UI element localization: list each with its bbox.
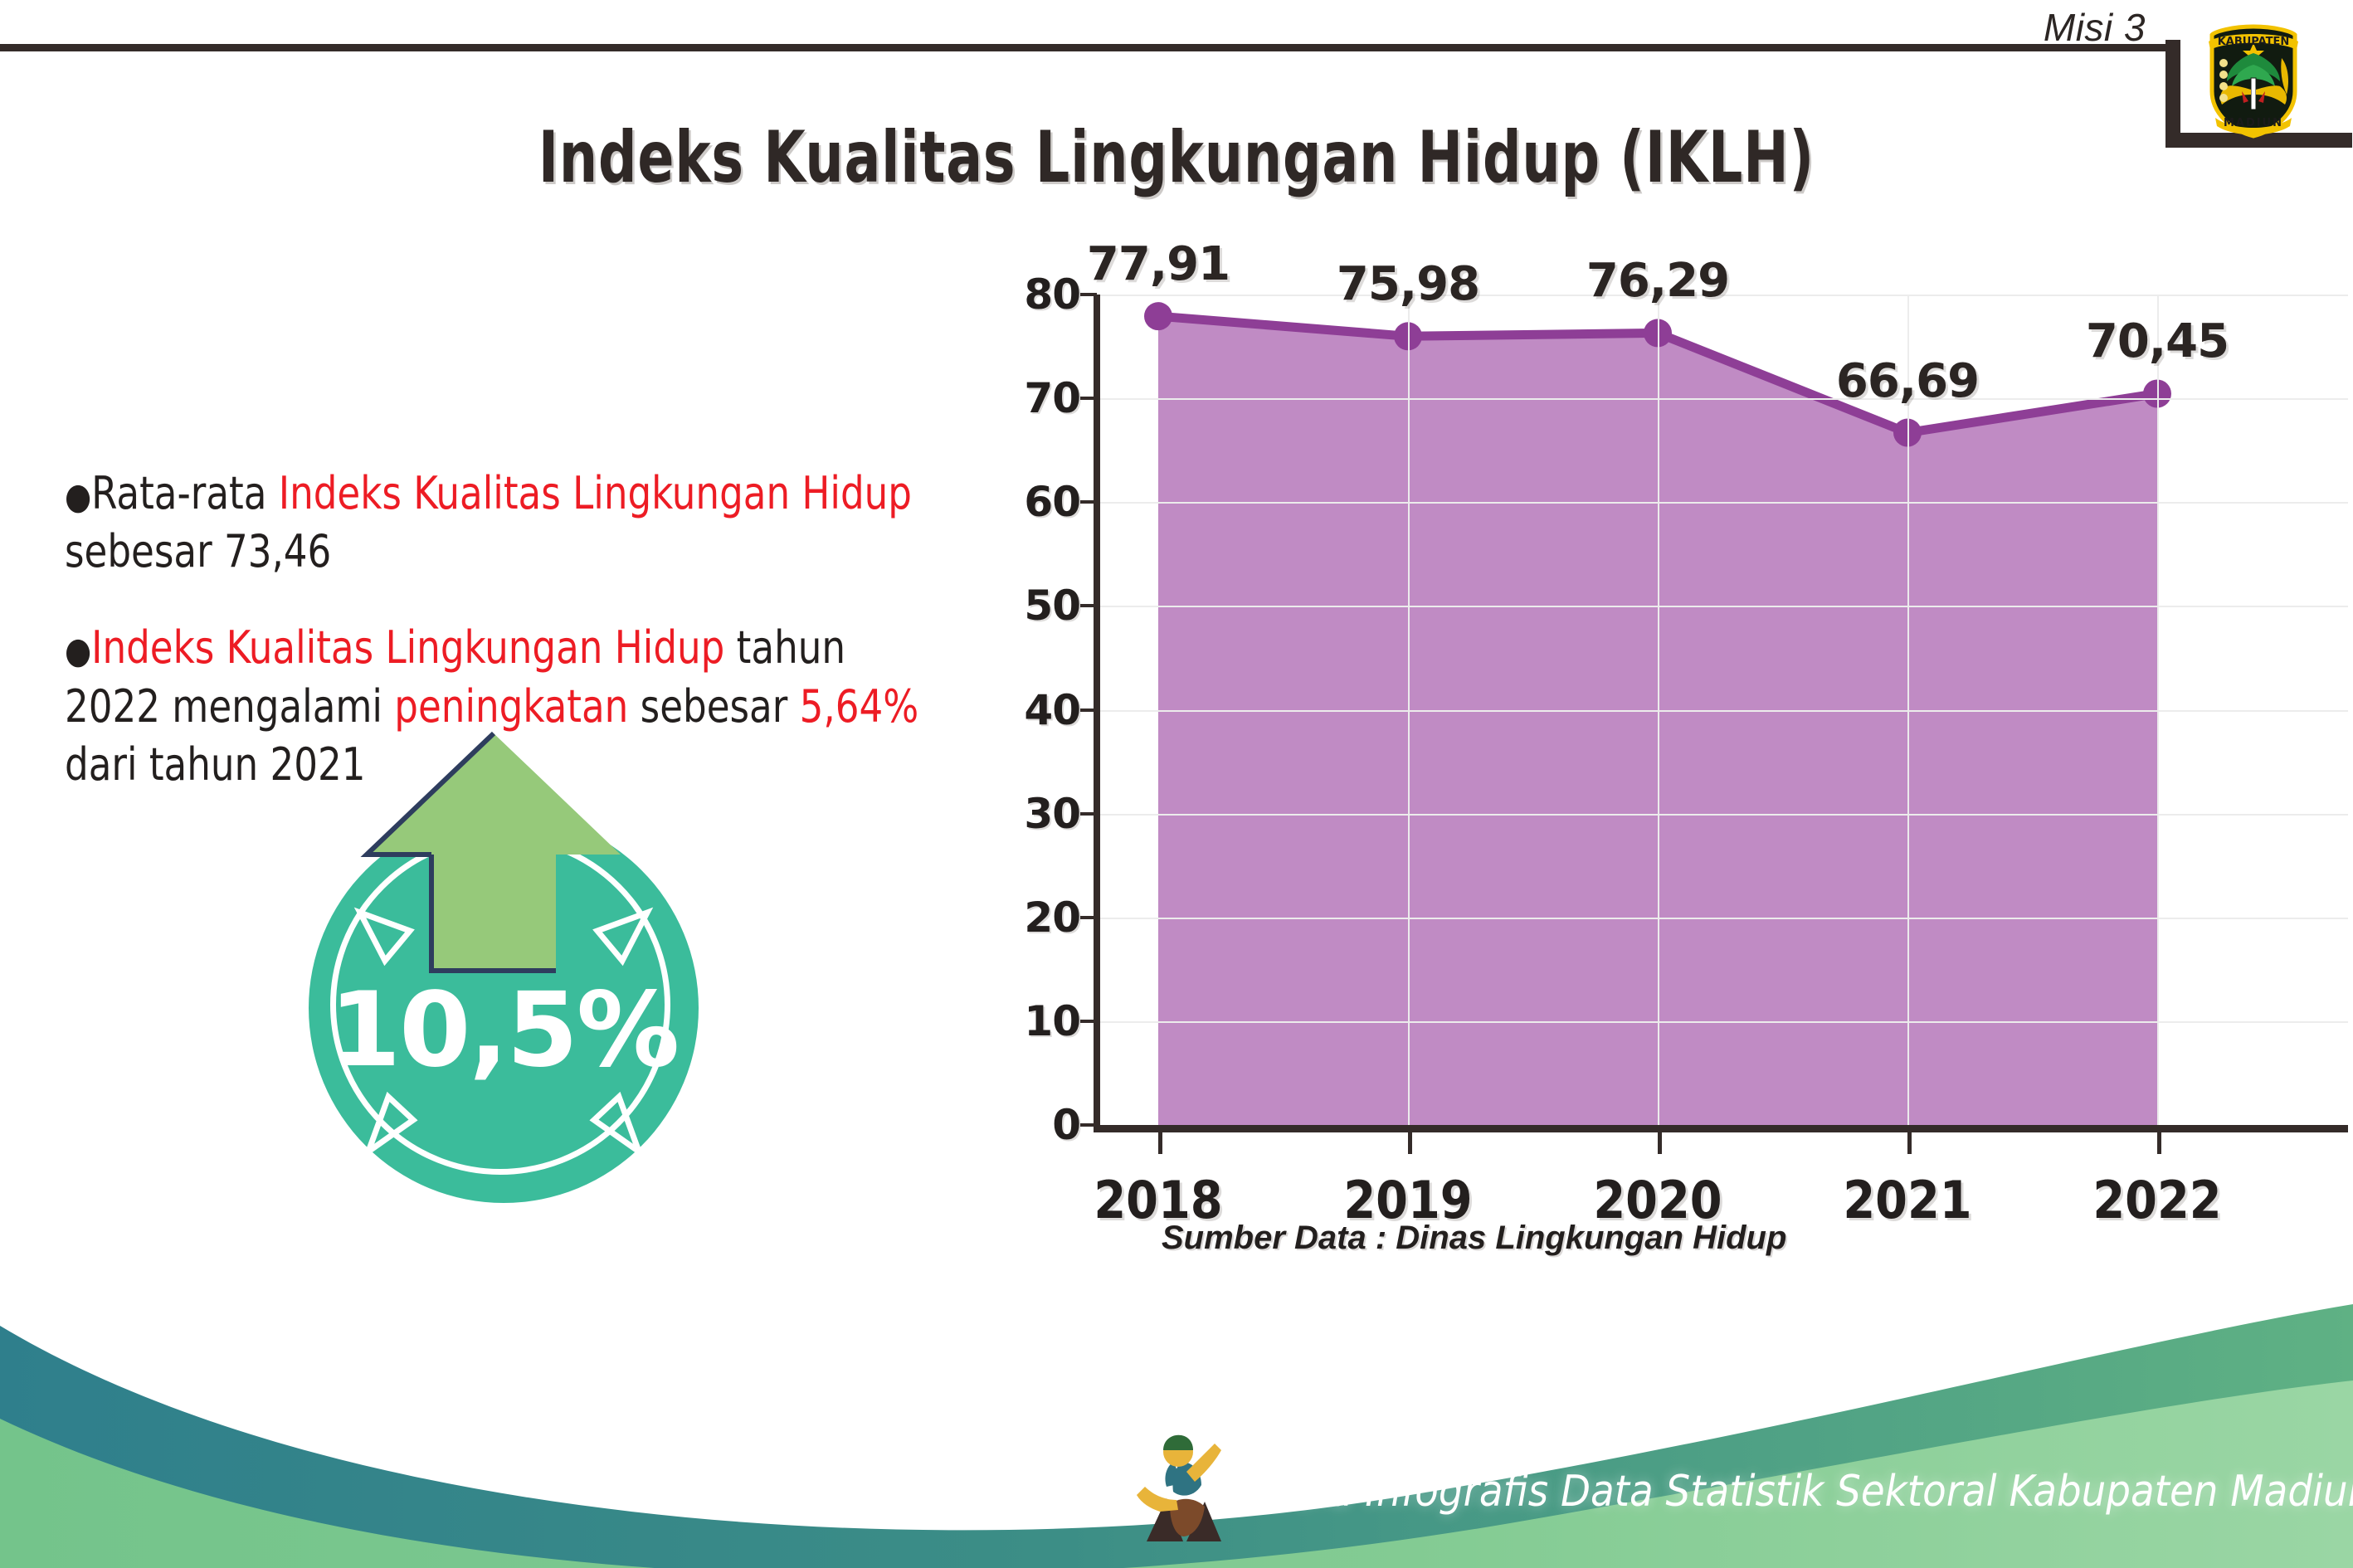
source-note: Sumber Data : Dinas Lingkungan Hidup [1162,1220,1786,1257]
crest-bottom-label: MADIUN [2224,117,2283,129]
bullet-average-text: Rata-rata Indeks Kualitas Lingkungan Hid… [65,467,912,577]
gridline-vertical [1907,295,1909,1125]
y-axis-tick [1080,397,1097,400]
y-axis-tick [1080,604,1097,607]
gridline-vertical [2157,295,2159,1125]
x-axis-line [1094,1125,2348,1132]
gridline-horizontal [1100,918,2348,919]
gridline-horizontal [1100,710,2348,712]
gridline-horizontal [1100,502,2348,504]
y-axis-tick [1080,916,1097,919]
data-point-label: 77,91 [1087,237,1230,291]
page-title: Indeks Kualitas Lingkungan Hidup (IKLH) [188,116,2165,199]
bullet-fragment-0: Rata-rata [91,467,279,519]
gridline-horizontal [1100,1021,2348,1023]
x-axis-tick [2157,1132,2161,1154]
y-axis-tick-label: 70 [1024,374,1080,422]
y-axis-tick-label: 0 [1052,1101,1080,1149]
gridline-horizontal [1100,814,2348,816]
growth-badge: 10,5% [292,722,723,1220]
data-point-label: 75,98 [1337,257,1479,311]
bullet-marker: ● [65,630,91,672]
header-bracket-vertical [2165,40,2180,148]
bullet-average: ●Rata-rata Indeks Kualitas Lingkungan Hi… [65,465,929,581]
bullet-marker: ● [65,475,91,518]
bullet-fragment-2: sebesar 73,46 [65,525,331,577]
y-axis-tick [1080,1123,1097,1127]
gridline-horizontal [1100,398,2348,400]
bullet-fragment-1: Indeks Kualitas Lingkungan Hidup [279,467,912,519]
y-axis-tick-label: 20 [1024,894,1080,942]
data-point-marker [1144,302,1172,330]
y-axis-tick [1080,293,1097,296]
x-axis-tick [1158,1132,1162,1154]
gridline-vertical [1658,295,1659,1125]
y-axis-tick [1080,812,1097,816]
y-axis-line [1094,295,1100,1132]
data-point-label: 66,69 [1836,354,1979,408]
y-axis-tick-label: 60 [1024,478,1080,526]
kabupaten-madiun-crest-icon: KABUPATEN MADIUN [2190,15,2316,141]
gridline-horizontal [1100,606,2348,607]
x-axis-tick [1658,1132,1662,1154]
x-axis-tick [1907,1132,1912,1154]
y-axis-tick [1080,500,1097,504]
y-axis-tick-label: 80 [1024,270,1080,319]
iklh-area-chart: 01020304050607080 2018201920202021202277… [987,295,2348,1174]
gridline-vertical [1408,295,1410,1125]
footer-tagline: Media Infografis Data Statistik Sektoral… [1236,1467,2353,1517]
plot-area: 2018201920202021202277,9175,9876,2966,69… [1094,295,2348,1132]
crest-top-label: KABUPATEN [2218,36,2290,48]
badge-percent-value: 10,5% [309,971,699,1090]
media-infografis-figure-icon [1135,1425,1233,1550]
y-axis-tick [1080,709,1097,712]
infographic-page: Misi 3 KABUPATEN MADIUN Indeks Kualitas … [0,0,2353,1568]
y-axis-labels: 01020304050607080 [987,295,1080,1132]
data-point-label: 76,29 [1586,254,1729,308]
mission-label: Misi 3 [2044,5,2146,50]
y-axis-tick-label: 50 [1024,582,1080,630]
x-axis-tick-label: 2022 [2092,1170,2221,1230]
y-axis-tick [1080,1020,1097,1023]
data-point-label: 70,45 [2086,314,2229,368]
x-axis-tick-label: 2021 [1843,1170,1971,1230]
bullet-fragment-4: 5,64% [800,680,919,733]
y-axis-tick-label: 40 [1024,686,1080,734]
y-axis-tick-label: 10 [1024,997,1080,1045]
x-axis-tick [1408,1132,1412,1154]
header-rule [0,44,2174,51]
y-axis-tick-label: 30 [1024,790,1080,838]
bullet-fragment-0: Indeks Kualitas Lingkungan Hidup [91,621,724,674]
